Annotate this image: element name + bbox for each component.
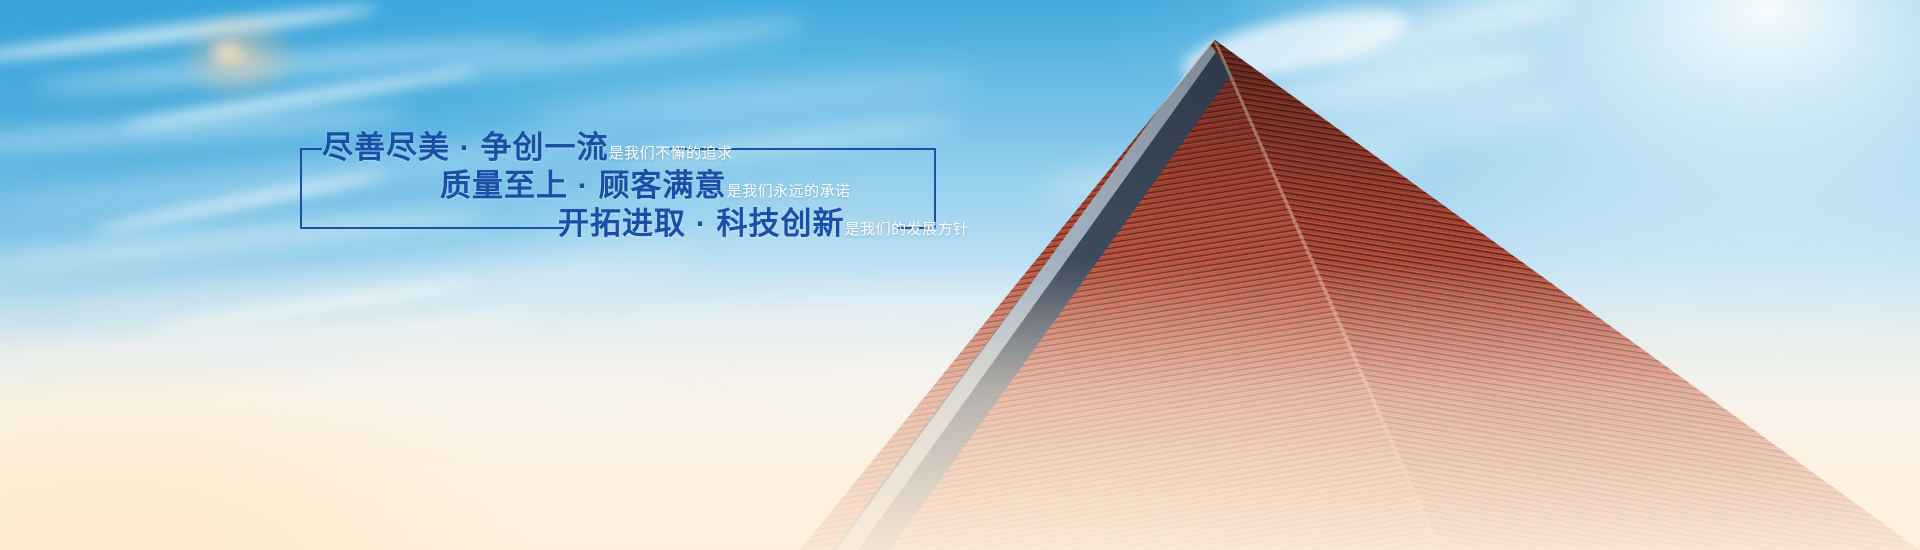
slogan-line-3: 开拓进取 · 科技创新是我们的发展方针 [558, 208, 969, 239]
slogan-line-2-main: 质量至上 · 顾客满意 [440, 168, 727, 203]
slogan-block: 尽善尽美 · 争创一流是我们不懈的追求 质量至上 · 顾客满意是我们永远的承诺 … [300, 148, 936, 229]
slogan-line-1-main: 尽善尽美 · 争创一流 [322, 130, 609, 165]
slogan-line-2: 质量至上 · 顾客满意是我们永远的承诺 [440, 170, 851, 201]
warm-haze-bottom-left [0, 220, 760, 550]
slogan-line-1-sub: 是我们不懈的追求 [609, 145, 733, 162]
hero-banner: 尽善尽美 · 争创一流是我们不懈的追求 质量至上 · 顾客满意是我们永远的承诺 … [0, 0, 1920, 550]
lens-flare-core-icon [205, 36, 249, 70]
slogan-line-3-main: 开拓进取 · 科技创新 [558, 206, 845, 241]
slogan-line-3-sub: 是我们的发展方针 [845, 221, 969, 238]
frame-left-edge [300, 148, 302, 229]
frame-bottom-left-rule [300, 227, 564, 229]
slogan-line-1: 尽善尽美 · 争创一流是我们不懈的追求 [322, 132, 733, 163]
frame-top-left-stub [300, 148, 322, 150]
slogan-line-2-sub: 是我们永远的承诺 [727, 183, 851, 200]
